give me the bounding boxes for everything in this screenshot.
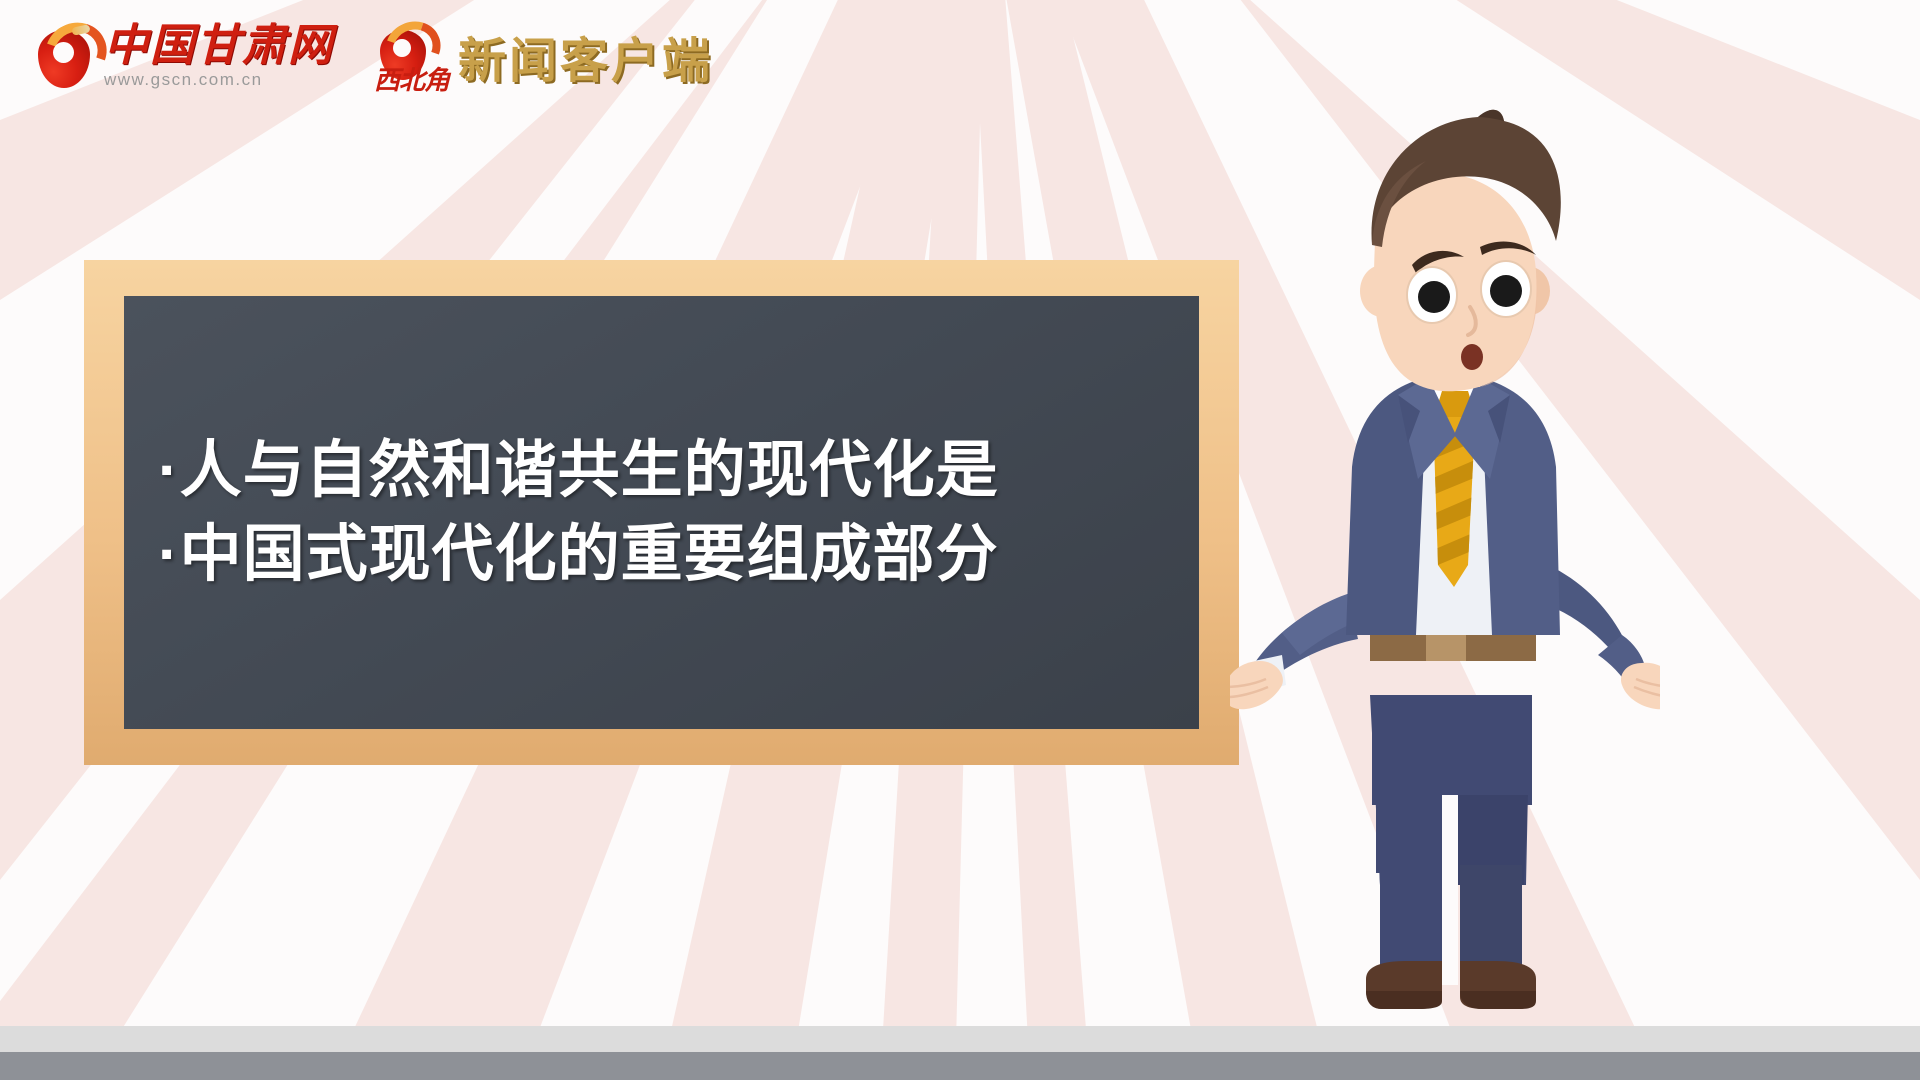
- gansu-net-logo-icon: [34, 20, 96, 92]
- slide-canvas: 中国甘肃网 www.gscn.com.cn 西北角 新闻客户端 ·人与自然和谐共…: [0, 0, 1920, 1080]
- logo-gansu-net[interactable]: 中国甘肃网 www.gscn.com.cn: [34, 20, 334, 92]
- chalkboard-line-1: ·人与自然和谐共生的现代化是: [158, 429, 1199, 512]
- xibeijiao-logo-icon: 西北角: [376, 18, 432, 94]
- presenter-head: [1360, 110, 1561, 391]
- presenter-right-arm: [1542, 565, 1660, 709]
- chalkboard-line-2: ·中国式现代化的重要组成部分: [158, 513, 1199, 596]
- gansu-net-url: www.gscn.com.cn: [104, 71, 334, 88]
- app-title: 新闻客户端: [458, 21, 713, 91]
- logo-xibeijiao[interactable]: 西北角: [376, 18, 432, 94]
- presenter-illustration: [1230, 95, 1660, 1065]
- gansu-net-wordmark: 中国甘肃网 www.gscn.com.cn: [104, 24, 334, 88]
- xibeijiao-name-cn: 西北角: [374, 60, 449, 97]
- chalkboard: ·人与自然和谐共生的现代化是 ·中国式现代化的重要组成部分: [84, 260, 1239, 765]
- presenter-torso: [1346, 367, 1560, 661]
- brand-header: 中国甘肃网 www.gscn.com.cn 西北角 新闻客户端: [34, 12, 713, 100]
- chalkboard-surface: ·人与自然和谐共生的现代化是 ·中国式现代化的重要组成部分: [124, 296, 1199, 729]
- presenter-legs: [1370, 695, 1532, 985]
- gansu-net-name-cn: 中国甘肃网: [104, 24, 334, 68]
